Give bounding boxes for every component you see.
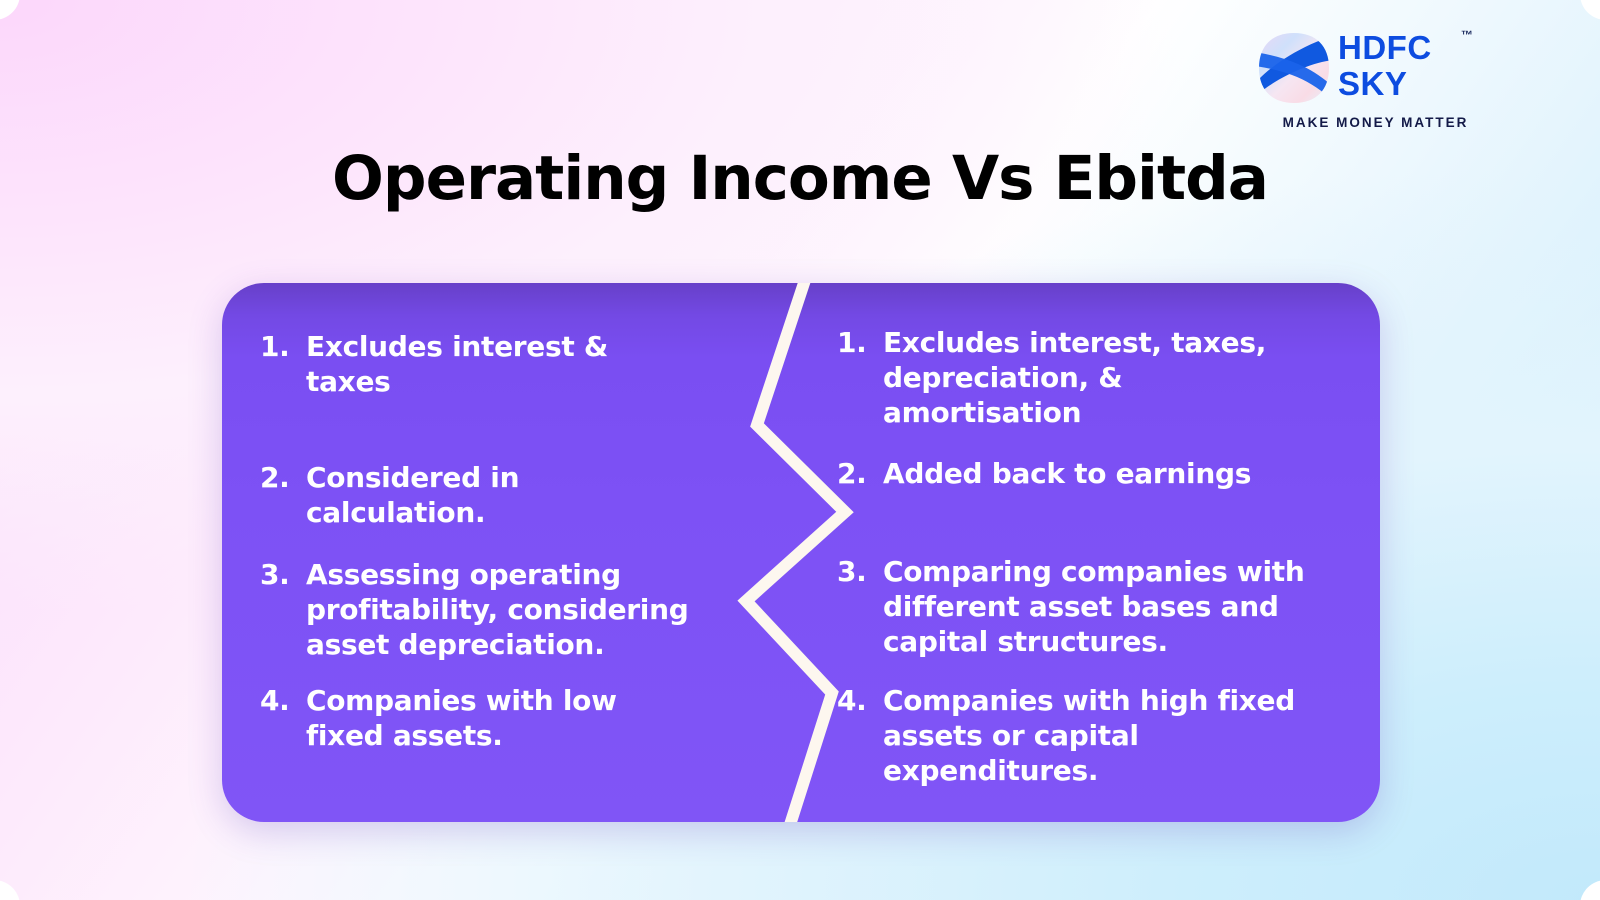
column-operating-income: 1. Excludes interest & taxes 2. Consider… — [260, 283, 760, 822]
list-item: 1. Excludes interest & taxes — [260, 329, 700, 399]
trademark-symbol: ™ — [1461, 28, 1473, 42]
list-item: 2. Considered in calculation. — [260, 460, 700, 530]
list-item: 2. Added back to earnings — [837, 456, 1277, 491]
canvas-corner-bottom-left — [0, 880, 20, 900]
canvas-corner-bottom-right — [1580, 880, 1600, 900]
list-item-text: Comparing companies with different asset… — [883, 554, 1317, 659]
list-item-text: Companies with low fixed assets. — [306, 683, 700, 753]
list-item: 3. Comparing companies with different as… — [837, 554, 1317, 659]
list-item-number: 2. — [837, 456, 883, 491]
column-ebitda: 1. Excludes interest, taxes, depreciatio… — [837, 283, 1337, 822]
canvas-corner-top-left — [0, 0, 20, 20]
list-item: 4. Companies with low fixed assets. — [260, 683, 700, 753]
list-item: 1. Excludes interest, taxes, depreciatio… — [837, 325, 1307, 430]
list-item-text: Excludes interest & taxes — [306, 329, 700, 399]
brand-name-line-2: SKY — [1338, 66, 1488, 102]
list-item-number: 3. — [837, 554, 883, 589]
brand-logo: HDFC SKY ™ MAKE MONEY MATTER — [1258, 27, 1488, 137]
list-item-number: 1. — [837, 325, 883, 360]
comparison-card: 1. Excludes interest & taxes 2. Consider… — [222, 283, 1380, 822]
list-item-number: 4. — [837, 683, 883, 718]
list-item-text: Considered in calculation. — [306, 460, 700, 530]
page-title: Operating Income Vs Ebitda — [0, 143, 1600, 214]
list-item-number: 3. — [260, 557, 306, 592]
canvas-corner-top-right — [1580, 0, 1600, 20]
list-item-text: Added back to earnings — [883, 456, 1277, 491]
list-item-number: 4. — [260, 683, 306, 718]
list-item-text: Assessing operating profitability, consi… — [306, 557, 730, 662]
list-item: 3. Assessing operating profitability, co… — [260, 557, 730, 662]
list-item-text: Companies with high fixed assets or capi… — [883, 683, 1297, 788]
hdfc-sky-logo-icon — [1258, 32, 1330, 104]
list-item-text: Excludes interest, taxes, depreciation, … — [883, 325, 1307, 430]
list-item-number: 1. — [260, 329, 306, 364]
brand-tagline: MAKE MONEY MATTER — [1263, 115, 1488, 130]
list-item: 4. Companies with high fixed assets or c… — [837, 683, 1297, 788]
infographic-canvas: HDFC SKY ™ MAKE MONEY MATTER Operating I… — [0, 0, 1600, 900]
list-item-number: 2. — [260, 460, 306, 495]
